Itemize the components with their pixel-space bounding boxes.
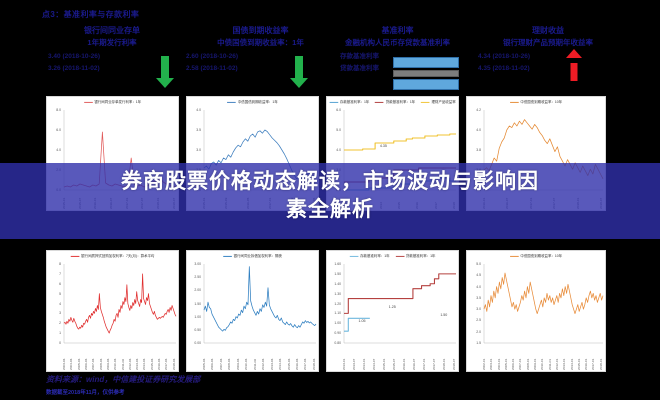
page-title-line2: 素全解析 bbox=[26, 196, 634, 224]
chart-series-line bbox=[344, 274, 456, 314]
arrow-shaft bbox=[161, 56, 169, 78]
bar-top bbox=[393, 57, 459, 68]
x-axis-tick-label: 2009-06 bbox=[107, 343, 110, 370]
arrow-down-icon-2 bbox=[290, 56, 308, 80]
x-axis-tick-label: 2003-01 bbox=[490, 343, 493, 370]
header-column-3: 基准利率 金融机构人民币存贷款基准利率 bbox=[330, 25, 465, 49]
x-axis-tick-label: 2007-01 bbox=[519, 343, 522, 370]
header-column-4-row2-value: 4.35 bbox=[478, 65, 491, 72]
x-axis-tick-label: 2014-01 bbox=[363, 343, 366, 370]
x-axis-tick-label: 2011-01 bbox=[549, 343, 552, 370]
x-axis-tick-label: 2017-01 bbox=[592, 343, 595, 370]
x-axis-tick-label: 2008-06 bbox=[228, 343, 231, 370]
x-axis-tick-label: 2018-06 bbox=[313, 343, 316, 370]
x-axis-tick-label: 2013-01 bbox=[343, 343, 346, 370]
chart-series-line bbox=[484, 273, 603, 314]
header-column-1: 银行间同业存单 1年期发行利率 bbox=[52, 25, 172, 49]
x-axis-tick-label: 2005-01 bbox=[505, 343, 508, 370]
bar-mid bbox=[393, 70, 459, 77]
x-axis-tick-label: 2007-06 bbox=[220, 343, 223, 370]
header-column-2-row2-date: (2018-11-02) bbox=[200, 65, 237, 72]
header-column-4-line1: 理财收益 bbox=[478, 25, 618, 37]
x-axis-ticks: 2005-062006-062007-062008-062009-062010-… bbox=[203, 343, 316, 370]
header-column-2-line1: 国债到期收益率 bbox=[188, 25, 333, 37]
x-axis-tick-label: 2016-01 bbox=[585, 343, 588, 370]
x-axis-tick-label: 2002-01 bbox=[483, 343, 486, 370]
page-title-line1: 券商股票价格动态解读，市场波动与影响因 bbox=[26, 168, 634, 196]
header-column-1-row1-value: 3.40 bbox=[48, 53, 61, 60]
x-axis-tick-label: 2016-06 bbox=[296, 343, 299, 370]
chart-panel-bottom-2[interactable]: 银行间同业拆借加权利率：隔夜3.002.502.001.501.000.500.… bbox=[186, 250, 319, 372]
x-axis-tick-label: 2008-06 bbox=[100, 343, 103, 370]
x-axis-tick-label: 2004-06 bbox=[70, 343, 73, 370]
x-axis-tick-label: 2013-01 bbox=[563, 343, 566, 370]
chart-series-line bbox=[204, 267, 316, 332]
x-axis-tick-label: 2013-06 bbox=[271, 343, 274, 370]
x-axis-tick-label: 2011-06 bbox=[254, 343, 257, 370]
page-title: 券商股票价格动态解读，市场波动与影响因 素全解析 bbox=[0, 168, 660, 224]
x-axis-tick-label: 2010-06 bbox=[114, 343, 117, 370]
x-axis-tick-label: 2015-01 bbox=[383, 343, 386, 370]
arrow-head bbox=[290, 78, 308, 88]
arrow-head bbox=[566, 49, 582, 58]
x-axis-tick-label: 2017-06 bbox=[165, 343, 168, 370]
chart-panel-bottom-4[interactable]: 中债国债到期收益率：10年5.04.54.03.53.02.52.01.5200… bbox=[466, 250, 606, 372]
x-axis-tick-label: 2014-01 bbox=[571, 343, 574, 370]
x-axis-tick-label: 2006-06 bbox=[85, 343, 88, 370]
x-axis-tick-label: 2006-01 bbox=[512, 343, 515, 370]
x-axis-tick-label: 2018-06 bbox=[173, 343, 176, 370]
x-axis-ticks: 2002-012003-012004-012005-012006-012007-… bbox=[483, 343, 603, 370]
x-axis-tick-label: 2018-07 bbox=[453, 343, 456, 370]
header-column-2-line2: 中债国债到期收益率：1年 bbox=[188, 37, 333, 49]
header-column-4-line2: 银行理财产品预期年收益率 bbox=[478, 37, 618, 49]
x-axis-tick-label: 2014-06 bbox=[143, 343, 146, 370]
x-axis-tick-label: 2013-07 bbox=[353, 343, 356, 370]
header-column-2-row2: 2.58 (2018-11-02) bbox=[186, 63, 238, 74]
arrow-head bbox=[156, 78, 174, 88]
arrow-down-icon-1 bbox=[156, 56, 174, 80]
x-axis-tick-label: 2008-01 bbox=[527, 343, 530, 370]
x-axis-tick-label: 2012-06 bbox=[262, 343, 265, 370]
header-column-1-row2-date: (2018-11-02) bbox=[62, 65, 99, 72]
arrow-shaft bbox=[571, 63, 578, 81]
header-column-4-row1-value: 4.34 bbox=[478, 53, 491, 60]
x-axis-tick-label: 2014-07 bbox=[373, 343, 376, 370]
chart-series-line bbox=[344, 318, 370, 331]
bar-bottom bbox=[393, 79, 459, 90]
header-column-2-row1-date: (2018-10-26) bbox=[200, 53, 238, 60]
chart-series-line bbox=[64, 274, 176, 333]
header-column-1-line2: 1年期发行利率 bbox=[52, 37, 172, 49]
x-axis-tick-label: 2003-06 bbox=[63, 343, 66, 370]
x-axis-tick-label: 2013-06 bbox=[136, 343, 139, 370]
x-axis-ticks: 2013-012013-072014-012014-072015-012015-… bbox=[343, 343, 456, 370]
slide-heading: 点3：基准利率与存款利率 bbox=[42, 9, 139, 20]
x-axis-tick-label: 2010-06 bbox=[245, 343, 248, 370]
x-axis-ticks: 2003-062004-062005-062006-062007-062008-… bbox=[63, 343, 176, 370]
header-column-4: 理财收益 银行理财产品预期年收益率 bbox=[478, 25, 618, 49]
x-axis-tick-label: 2005-06 bbox=[78, 343, 81, 370]
x-axis-tick-label: 2009-01 bbox=[534, 343, 537, 370]
x-axis-tick-label: 2015-07 bbox=[393, 343, 396, 370]
x-axis-tick-label: 2012-01 bbox=[556, 343, 559, 370]
header-column-1-row1: 3.40 (2018-10-26) bbox=[48, 51, 100, 62]
x-axis-tick-label: 2007-06 bbox=[92, 343, 95, 370]
header-column-1-row2-value: 3.26 bbox=[48, 65, 61, 72]
arrow-shaft bbox=[295, 56, 303, 78]
header-column-2-row1-value: 2.60 bbox=[186, 53, 199, 60]
data-label: 1.25 bbox=[389, 305, 396, 309]
header-column-3-row1: 存款基准利率 bbox=[340, 51, 379, 62]
data-label: 4.35 bbox=[380, 144, 387, 148]
header-column-2: 国债到期收益率 中债国债到期收益率：1年 bbox=[188, 25, 333, 49]
arrow-up-icon bbox=[566, 57, 582, 81]
x-axis-tick-label: 2018-01 bbox=[600, 343, 603, 370]
x-axis-tick-label: 2017-07 bbox=[433, 343, 436, 370]
header-column-4-row1: 4.34 (2018-10-26) bbox=[478, 51, 530, 62]
x-axis-tick-label: 2018-01 bbox=[443, 343, 446, 370]
chart-panel-bottom-1[interactable]: 银行间质押式回购加权利率：7天(月)：算术平均8765432102003-062… bbox=[46, 250, 179, 372]
x-axis-tick-label: 2011-06 bbox=[122, 343, 125, 370]
footer-source: 资料来源：wind，中信建投证券研究发展部 bbox=[46, 374, 200, 385]
bar-indicator-icon bbox=[393, 57, 459, 90]
header-column-3-row2: 贷款基准利率 bbox=[340, 63, 379, 74]
header-column-1-row1-date: (2018-10-26) bbox=[62, 53, 100, 60]
header-column-2-row2-value: 2.58 bbox=[186, 65, 199, 72]
chart-series-line bbox=[344, 134, 456, 150]
slide-canvas: 点3：基准利率与存款利率 银行间同业存单 1年期发行利率 3.40 (2018-… bbox=[0, 0, 660, 400]
x-axis-tick-label: 2009-06 bbox=[237, 343, 240, 370]
header-column-4-row1-date: (2018-10-26) bbox=[492, 53, 530, 60]
x-axis-tick-label: 2017-01 bbox=[423, 343, 426, 370]
x-axis-tick-label: 2015-06 bbox=[288, 343, 291, 370]
x-axis-tick-label: 2004-01 bbox=[498, 343, 501, 370]
data-label: 1.05 bbox=[359, 319, 366, 323]
x-axis-tick-label: 2014-06 bbox=[279, 343, 282, 370]
header-column-4-row2-date: (2018-11-02) bbox=[492, 65, 529, 72]
header-column-3-line1: 基准利率 bbox=[330, 25, 465, 37]
header-column-4-row2: 4.35 (2018-11-02) bbox=[478, 63, 530, 74]
header-column-2-row1: 2.60 (2018-10-26) bbox=[186, 51, 238, 62]
header-column-3-row2-value: 贷款基准利率 bbox=[340, 65, 379, 72]
x-axis-tick-label: 2015-06 bbox=[151, 343, 154, 370]
header-column-1-line1: 银行间同业存单 bbox=[52, 25, 172, 37]
x-axis-tick-label: 2017-06 bbox=[304, 343, 307, 370]
header-column-3-line2: 金融机构人民币存贷款基准利率 bbox=[330, 37, 465, 49]
chart-panel-bottom-3[interactable]: 存款基准利率：1年贷款基准利率：1年1.601.501.401.301.201.… bbox=[326, 250, 459, 372]
x-axis-tick-label: 2006-06 bbox=[211, 343, 214, 370]
x-axis-tick-label: 2012-06 bbox=[129, 343, 132, 370]
footer-subnote: 数据截至2018年11月，仅供参考 bbox=[46, 388, 125, 396]
x-axis-tick-label: 2015-01 bbox=[578, 343, 581, 370]
header-column-3-row1-value: 存款基准利率 bbox=[340, 53, 379, 60]
x-axis-tick-label: 2010-01 bbox=[541, 343, 544, 370]
x-axis-tick-label: 2005-06 bbox=[203, 343, 206, 370]
x-axis-tick-label: 2016-06 bbox=[158, 343, 161, 370]
data-label: 1.50 bbox=[440, 313, 447, 317]
x-axis-tick-label: 2016-01 bbox=[403, 343, 406, 370]
x-axis-tick-label: 2016-07 bbox=[413, 343, 416, 370]
header-column-1-row2: 3.26 (2018-11-02) bbox=[48, 63, 100, 74]
